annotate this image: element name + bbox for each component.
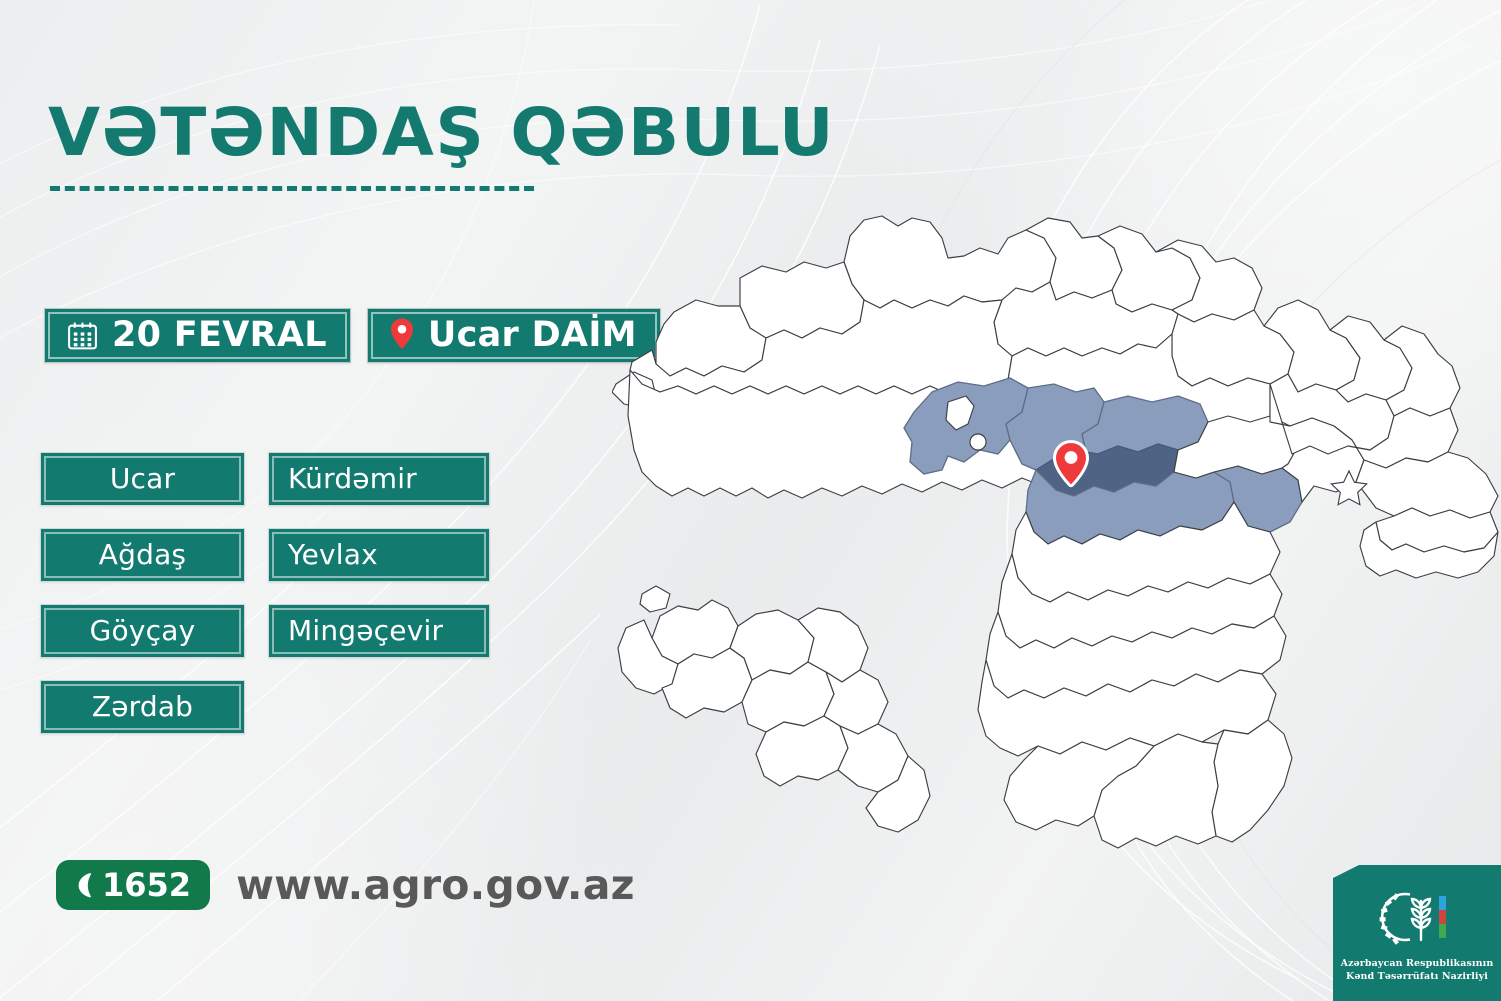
district-item-yevlax[interactable]: Yevlax: [268, 528, 490, 582]
ministry-logo-line2: Kənd Təsərrüfatı Nazirliyi: [1341, 971, 1494, 984]
district-label: Ucar: [110, 465, 175, 493]
title-underline-rule: [50, 186, 534, 191]
phone-icon: [72, 871, 93, 899]
district-label: Göyçay: [90, 617, 196, 645]
district-item-zerdab[interactable]: Zərdab: [40, 680, 245, 734]
map-nakhchivan-exclave: [618, 586, 930, 832]
district-label: Mingəçevir: [288, 617, 443, 645]
district-item-kurdemir[interactable]: Kürdəmir: [268, 452, 490, 506]
footer-contact: 1652 www.agro.gov.az: [56, 860, 635, 910]
phone-number: 1652: [102, 869, 191, 901]
ministry-logo-line1: Azərbaycan Respublikasının: [1341, 958, 1494, 971]
calendar-icon: [66, 319, 99, 352]
district-column-right: Kürdəmir Yevlax Mingəçevir: [268, 452, 490, 680]
district-item-ucar[interactable]: Ucar: [40, 452, 245, 506]
location-pin-icon: [389, 317, 415, 353]
poster-canvas: VƏTƏNDAŞ QƏBULU: [0, 0, 1501, 1001]
page-title: VƏTƏNDAŞ QƏBULU: [48, 100, 835, 166]
district-label: Yevlax: [288, 541, 378, 569]
district-column-left: Ucar Ağdaş Göyçay Zərdab: [40, 452, 245, 756]
date-badge: 20 FEVRAL: [44, 308, 351, 363]
phone-badge[interactable]: 1652: [56, 860, 210, 910]
website-url[interactable]: www.agro.gov.az: [236, 865, 635, 906]
district-item-goycay[interactable]: Göyçay: [40, 604, 245, 658]
district-label: Ağdaş: [99, 541, 186, 569]
event-info-badges: 20 FEVRAL Ucar DAİM: [44, 308, 661, 363]
district-label: Zərdab: [92, 693, 193, 721]
wheat-gear-emblem-icon: [1375, 888, 1459, 951]
district-label: Kürdəmir: [288, 465, 417, 493]
azerbaijan-district-map: [612, 196, 1501, 896]
district-item-agdas[interactable]: Ağdaş: [40, 528, 245, 582]
district-item-mingecevir[interactable]: Mingəçevir: [268, 604, 490, 658]
location-badge-label: Ucar DAİM: [428, 318, 637, 353]
date-badge-label: 20 FEVRAL: [112, 318, 327, 353]
ministry-logo-text: Azərbaycan Respublikasının Kənd Təsərrüf…: [1341, 958, 1494, 983]
